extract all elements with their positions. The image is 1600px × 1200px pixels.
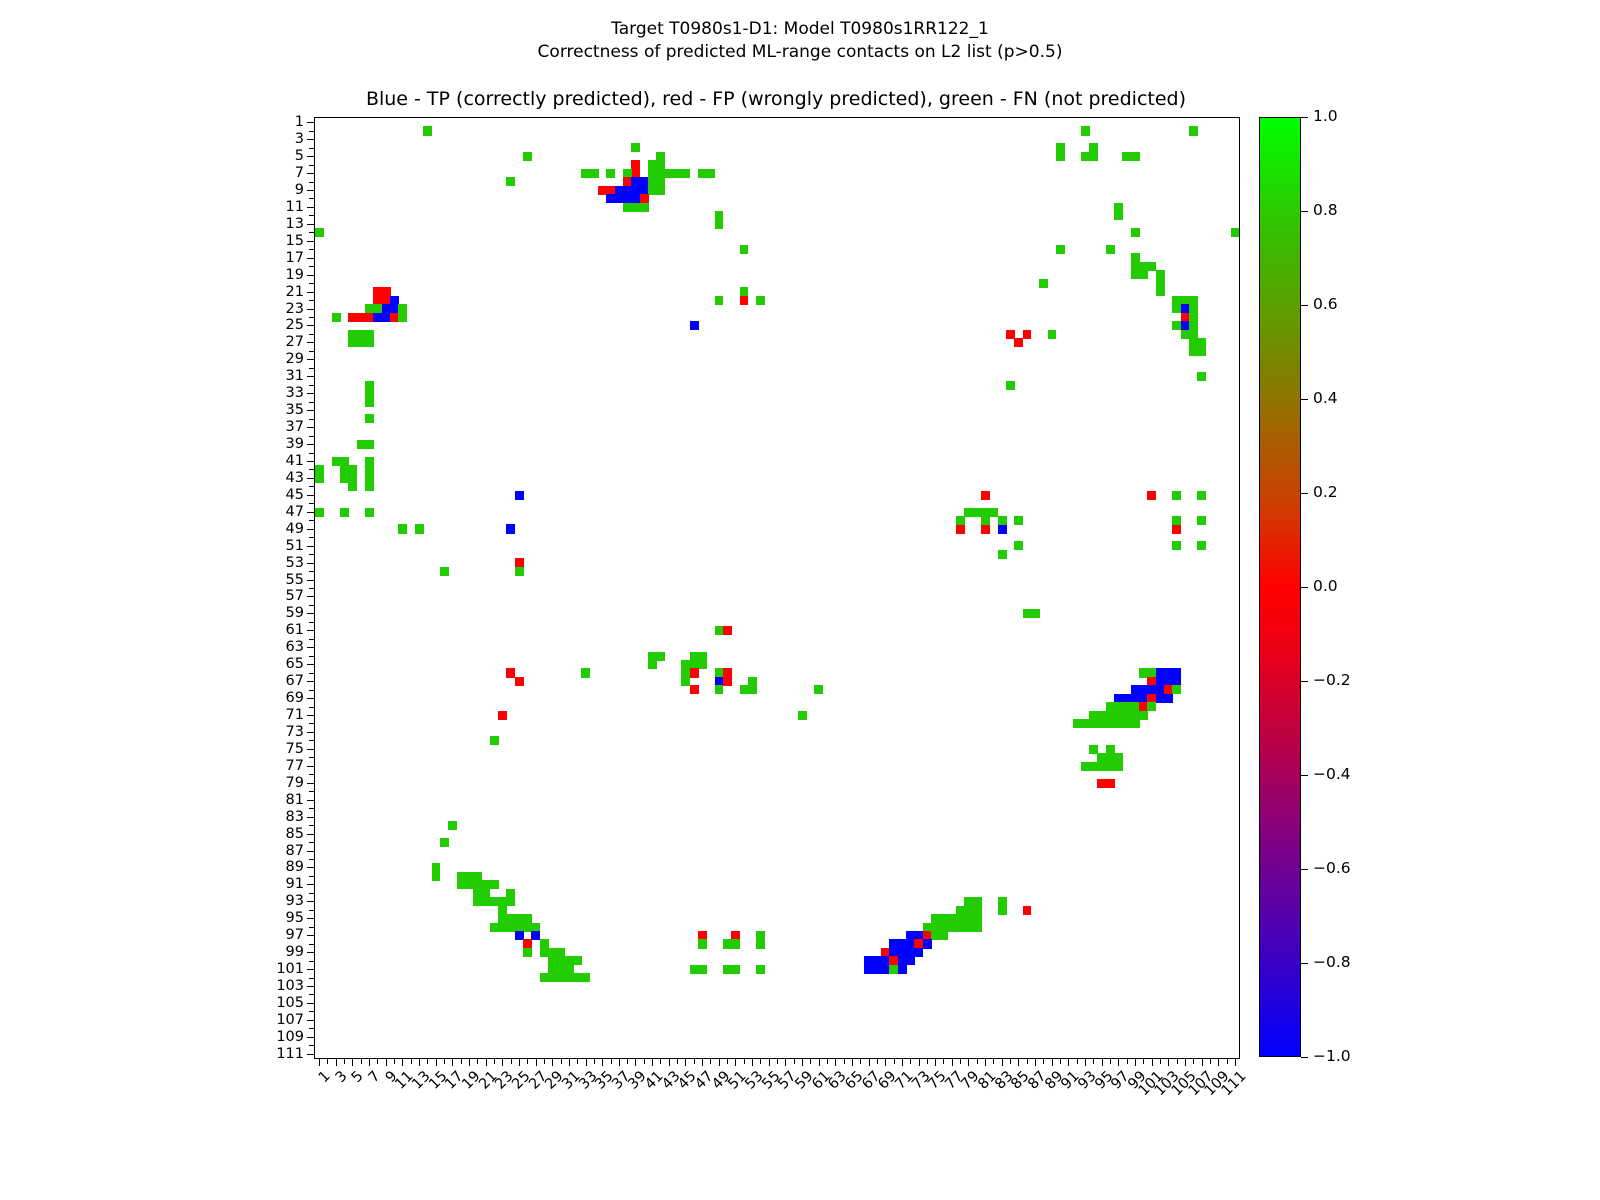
x-tick [452, 1058, 453, 1066]
y-tick [309, 182, 315, 183]
contact-cell [1014, 516, 1023, 525]
contact-cell [440, 567, 449, 576]
x-tick [544, 1058, 545, 1064]
contact-cell [1023, 906, 1032, 915]
colorbar-tick-label: 0.0 [1313, 579, 1338, 594]
contact-cell [723, 677, 732, 686]
colorbar-tick-label: −0.6 [1313, 861, 1351, 876]
x-tick [602, 1058, 603, 1066]
contact-cell [973, 923, 982, 932]
colorbar-tick [1301, 117, 1308, 118]
y-tick-label: 73 [286, 725, 304, 739]
y-tick [307, 461, 315, 462]
contact-cell [490, 880, 499, 889]
contact-cell [398, 524, 407, 533]
y-tick [309, 131, 315, 132]
contact-cell [1081, 126, 1090, 135]
x-tick [685, 1058, 686, 1066]
x-tick [710, 1058, 711, 1064]
x-tick [619, 1058, 620, 1066]
y-tick [307, 952, 315, 953]
y-tick [307, 342, 315, 343]
y-tick-label: 31 [286, 369, 304, 383]
contact-cell [340, 508, 349, 517]
y-tick-label: 107 [276, 1013, 304, 1027]
contact-cell [656, 652, 665, 661]
colorbar-tick-label: −0.4 [1313, 767, 1351, 782]
x-tick [1127, 1058, 1128, 1064]
y-tick [309, 385, 315, 386]
contact-cell [756, 939, 765, 948]
y-tick [309, 605, 315, 606]
y-tick [309, 859, 315, 860]
contact-cell [365, 397, 374, 406]
y-tick-label: 109 [276, 1030, 304, 1044]
x-tick [1043, 1058, 1044, 1064]
contact-cell [490, 736, 499, 745]
y-tick [309, 656, 315, 657]
y-tick-label: 65 [286, 657, 304, 671]
y-tick [307, 647, 315, 648]
y-tick [307, 224, 315, 225]
y-tick-label: 99 [286, 945, 304, 959]
y-tick [309, 808, 315, 809]
x-tick [402, 1058, 403, 1066]
contact-cell [440, 838, 449, 847]
x-tick [1218, 1058, 1219, 1066]
y-tick-label: 77 [286, 759, 304, 773]
contact-cell [515, 491, 524, 500]
x-tick [336, 1058, 337, 1066]
contact-cell [1172, 685, 1181, 694]
contact-cell [1023, 330, 1032, 339]
contact-cell [365, 440, 374, 449]
x-tick [1093, 1058, 1094, 1064]
contact-cell [523, 948, 532, 957]
y-tick [307, 698, 315, 699]
colorbar-tick [1301, 399, 1308, 400]
y-tick [307, 359, 315, 360]
y-tick-label: 47 [286, 505, 304, 519]
x-tick [852, 1058, 853, 1066]
y-tick [307, 935, 315, 936]
x-tick [719, 1058, 720, 1066]
y-tick-label: 3 [295, 132, 304, 146]
y-tick-label: 33 [286, 386, 304, 400]
x-tick [1010, 1058, 1011, 1064]
x-tick [411, 1058, 412, 1064]
y-tick [309, 503, 315, 504]
x-tick [827, 1058, 828, 1064]
x-tick [977, 1058, 978, 1064]
y-tick [309, 469, 315, 470]
colorbar-tick [1301, 305, 1308, 306]
contact-cell [1197, 347, 1206, 356]
x-tick [1052, 1058, 1053, 1066]
y-tick [309, 842, 315, 843]
y-tick [307, 1037, 315, 1038]
y-tick [307, 580, 315, 581]
colorbar-tick [1301, 211, 1308, 212]
y-tick-label: 49 [286, 522, 304, 536]
x-tick [952, 1058, 953, 1066]
x-tick [1210, 1058, 1211, 1064]
contact-cell [1139, 270, 1148, 279]
colorbar-tick-label: 0.4 [1313, 391, 1338, 406]
y-tick [309, 148, 315, 149]
contact-cell [1147, 491, 1156, 500]
contact-map-cells [315, 118, 1239, 1058]
x-tick [735, 1058, 736, 1066]
y-tick [307, 156, 315, 157]
y-tick [307, 834, 315, 835]
y-tick [309, 791, 315, 792]
x-tick [1202, 1058, 1203, 1066]
y-tick [307, 901, 315, 902]
y-tick-label: 43 [286, 471, 304, 485]
contact-cell [798, 711, 807, 720]
x-tick [635, 1058, 636, 1066]
contact-cell [332, 313, 341, 322]
y-tick [309, 961, 315, 962]
colorbar-tick [1301, 869, 1308, 870]
x-tick [669, 1058, 670, 1066]
contact-cell [690, 668, 699, 677]
x-tick [1085, 1058, 1086, 1066]
x-tick [1077, 1058, 1078, 1064]
y-tick [307, 800, 315, 801]
y-tick [309, 436, 315, 437]
y-tick-label: 25 [286, 318, 304, 332]
y-tick-label: 51 [286, 539, 304, 553]
x-tick [1068, 1058, 1069, 1066]
y-tick [309, 317, 315, 318]
contact-cell [423, 126, 432, 135]
contact-cell [1139, 711, 1148, 720]
y-tick [309, 351, 315, 352]
x-tick [1110, 1058, 1111, 1064]
contact-cell [432, 872, 441, 881]
x-tick [985, 1058, 986, 1066]
x-tick [910, 1058, 911, 1064]
x-tick [361, 1058, 362, 1064]
contact-cell [1172, 491, 1181, 500]
y-tick-label: 75 [286, 742, 304, 756]
y-tick [307, 563, 315, 564]
colorbar-gradient [1259, 117, 1301, 1057]
y-tick-label: 63 [286, 640, 304, 654]
y-tick-label: 5 [295, 149, 304, 163]
y-tick-label: 103 [276, 979, 304, 993]
x-tick [877, 1058, 878, 1064]
x-tick [1002, 1058, 1003, 1066]
y-tick [309, 419, 315, 420]
y-tick [309, 994, 315, 995]
x-tick [469, 1058, 470, 1066]
y-tick [309, 215, 315, 216]
contact-cell [415, 524, 424, 533]
colorbar-tick-label: −0.8 [1313, 955, 1351, 970]
x-tick [644, 1058, 645, 1064]
y-tick [309, 740, 315, 741]
y-tick [307, 275, 315, 276]
x-tick [327, 1058, 328, 1064]
contact-cell [348, 482, 357, 491]
y-tick-label: 89 [286, 860, 304, 874]
x-tick [577, 1058, 578, 1064]
contact-cell [998, 516, 1007, 525]
x-tick [419, 1058, 420, 1066]
y-tick [309, 757, 315, 758]
y-tick [307, 122, 315, 123]
y-tick [307, 851, 315, 852]
contact-cell [365, 338, 374, 347]
x-tick [1143, 1058, 1144, 1064]
x-tick [552, 1058, 553, 1066]
y-tick [307, 664, 315, 665]
contact-cell [506, 897, 515, 906]
y-tick-label: 27 [286, 335, 304, 349]
x-tick [611, 1058, 612, 1064]
colorbar-tick-label: −1.0 [1313, 1049, 1351, 1064]
contact-map-figure: Target T0980s1-D1: Model T0980s1RR122_1 … [0, 0, 1600, 1200]
x-tick [1185, 1058, 1186, 1066]
y-tick [307, 139, 315, 140]
y-tick-label: 15 [286, 234, 304, 248]
contact-cell [1189, 126, 1198, 135]
x-tick [960, 1058, 961, 1064]
x-tick [519, 1058, 520, 1066]
x-tick [536, 1058, 537, 1066]
x-tick [1018, 1058, 1019, 1066]
contact-cell [1197, 491, 1206, 500]
contact-cell [998, 906, 1007, 915]
y-tick-label: 29 [286, 352, 304, 366]
x-tick [835, 1058, 836, 1066]
figure-suptitle: Target T0980s1-D1: Model T0980s1RR122_1 … [0, 18, 1600, 64]
y-tick [307, 783, 315, 784]
contact-cell [756, 296, 765, 305]
contact-cell [898, 965, 907, 974]
contact-cell [648, 660, 657, 669]
x-tick [894, 1058, 895, 1064]
y-tick [309, 927, 315, 928]
contact-cell [740, 245, 749, 254]
contact-cell [981, 491, 990, 500]
x-tick [702, 1058, 703, 1066]
contact-cell [515, 567, 524, 576]
contact-cell [1106, 245, 1115, 254]
y-tick [307, 376, 315, 377]
contact-cell [365, 414, 374, 423]
y-tick-label: 83 [286, 810, 304, 824]
y-tick-label: 81 [286, 793, 304, 807]
contact-cell [606, 169, 615, 178]
x-tick [935, 1058, 936, 1066]
contact-map-plot-area[interactable]: 1357911131517192123252729313335373941434… [314, 117, 1240, 1059]
colorbar-tick [1301, 963, 1308, 964]
y-tick [309, 639, 315, 640]
colorbar-tick [1301, 775, 1308, 776]
contact-cell [698, 965, 707, 974]
x-tick-label: 7 [367, 1069, 383, 1085]
y-tick [307, 1020, 315, 1021]
y-tick-label: 7 [295, 166, 304, 180]
y-tick [307, 867, 315, 868]
x-tick [1035, 1058, 1036, 1066]
x-tick [744, 1058, 745, 1064]
contact-cell [315, 508, 324, 517]
y-tick [307, 918, 315, 919]
y-tick [307, 817, 315, 818]
x-tick [919, 1058, 920, 1066]
y-tick [307, 325, 315, 326]
contact-cell [1006, 381, 1015, 390]
y-tick [309, 1028, 315, 1029]
y-tick [309, 978, 315, 979]
y-tick [309, 453, 315, 454]
contact-cell [956, 516, 965, 525]
contact-cell [1056, 245, 1065, 254]
y-tick [309, 673, 315, 674]
contact-cell [1131, 719, 1140, 728]
x-tick-label: 5 [350, 1069, 366, 1085]
contact-cell [706, 169, 715, 178]
contact-cell [981, 516, 990, 525]
y-tick [307, 1054, 315, 1055]
y-tick-label: 95 [286, 911, 304, 925]
contact-cell [640, 203, 649, 212]
contact-cell [1156, 287, 1165, 296]
x-tick [1193, 1058, 1194, 1064]
contact-cell [998, 524, 1007, 533]
colorbar-tick [1301, 681, 1308, 682]
y-tick [309, 165, 315, 166]
y-tick-label: 41 [286, 454, 304, 468]
x-tick [869, 1058, 870, 1066]
x-tick [461, 1058, 462, 1064]
x-tick [1060, 1058, 1061, 1064]
y-tick-label: 23 [286, 302, 304, 316]
y-tick [307, 444, 315, 445]
y-tick-label: 71 [286, 708, 304, 722]
y-tick [307, 410, 315, 411]
x-tick [561, 1058, 562, 1064]
y-tick-label: 93 [286, 894, 304, 908]
y-tick-label: 97 [286, 928, 304, 942]
x-tick [694, 1058, 695, 1064]
x-tick [394, 1058, 395, 1064]
x-tick [777, 1058, 778, 1064]
y-tick [307, 969, 315, 970]
y-tick [307, 732, 315, 733]
axes-title: Blue - TP (correctly predicted), red - F… [314, 88, 1238, 110]
y-tick-label: 111 [276, 1047, 304, 1061]
y-tick-label: 57 [286, 589, 304, 603]
y-tick-label: 13 [286, 217, 304, 231]
x-tick [1027, 1058, 1028, 1064]
y-tick [307, 512, 315, 513]
x-tick [993, 1058, 994, 1064]
x-tick [1177, 1058, 1178, 1064]
y-tick [309, 266, 315, 267]
x-tick [319, 1058, 320, 1066]
x-tick [943, 1058, 944, 1064]
y-tick [307, 681, 315, 682]
y-tick [307, 884, 315, 885]
y-tick-label: 69 [286, 691, 304, 705]
contact-cell [1172, 516, 1181, 525]
x-tick [427, 1058, 428, 1064]
contact-cell [731, 965, 740, 974]
y-tick [309, 774, 315, 775]
x-tick [752, 1058, 753, 1066]
contact-cell [590, 169, 599, 178]
contact-cell [723, 626, 732, 635]
y-tick-label: 35 [286, 403, 304, 417]
contact-cell [698, 939, 707, 948]
x-tick [760, 1058, 761, 1064]
x-tick [569, 1058, 570, 1066]
x-tick [819, 1058, 820, 1066]
y-tick [307, 427, 315, 428]
x-tick [860, 1058, 861, 1064]
y-tick [309, 876, 315, 877]
y-tick [307, 495, 315, 496]
x-tick [386, 1058, 387, 1066]
y-tick [307, 613, 315, 614]
contact-cell [715, 220, 724, 229]
x-tick [1135, 1058, 1136, 1066]
contact-cell [1014, 541, 1023, 550]
y-tick [307, 529, 315, 530]
contact-cell [1147, 702, 1156, 711]
colorbar[interactable]: 1.00.80.60.40.20.0−0.2−0.4−0.6−0.8−1.0 [1259, 117, 1301, 1057]
x-tick [352, 1058, 353, 1066]
y-tick-label: 17 [286, 251, 304, 265]
y-tick-label: 21 [286, 285, 304, 299]
x-tick [802, 1058, 803, 1066]
y-tick [309, 723, 315, 724]
x-tick [627, 1058, 628, 1064]
x-tick [677, 1058, 678, 1064]
x-tick [1152, 1058, 1153, 1066]
x-tick [885, 1058, 886, 1066]
contact-cell [506, 177, 515, 186]
y-tick-label: 11 [286, 200, 304, 214]
colorbar-tick [1301, 1057, 1308, 1058]
contact-cell [906, 956, 915, 965]
contact-cell [656, 186, 665, 195]
x-tick [902, 1058, 903, 1066]
contact-cell [731, 939, 740, 948]
y-tick-label: 53 [286, 556, 304, 570]
y-tick [309, 1011, 315, 1012]
y-tick-label: 79 [286, 776, 304, 790]
x-tick [527, 1058, 528, 1064]
contact-cell [1172, 541, 1181, 550]
x-tick [586, 1058, 587, 1066]
x-tick [927, 1058, 928, 1064]
contact-cell [581, 668, 590, 677]
x-tick [769, 1058, 770, 1066]
contact-cell [398, 313, 407, 322]
y-tick [309, 690, 315, 691]
x-tick [844, 1058, 845, 1064]
y-tick-label: 59 [286, 606, 304, 620]
contact-cell [1114, 762, 1123, 771]
x-tick-label: 1 [317, 1069, 333, 1085]
